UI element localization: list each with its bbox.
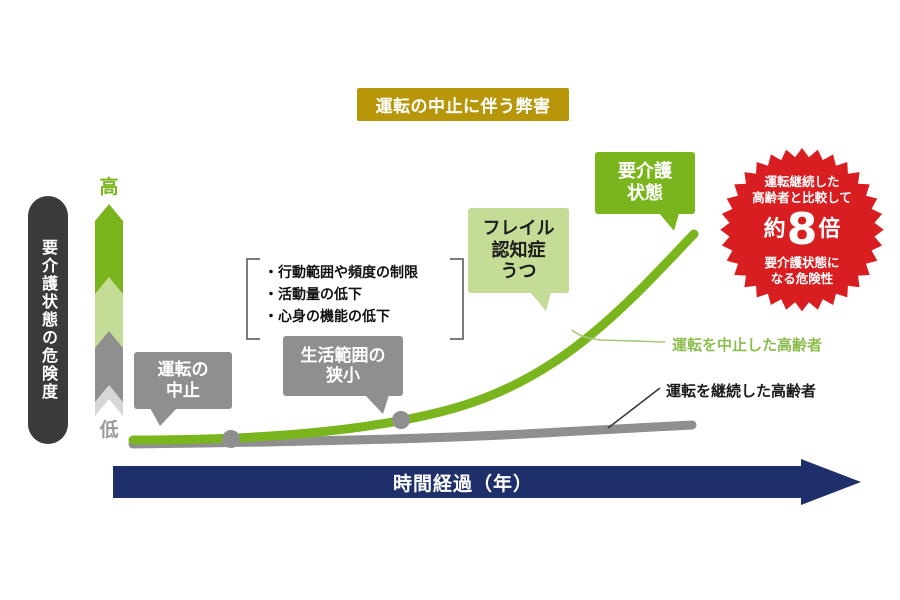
callout-stop-driving-line-1: 運転の xyxy=(158,360,209,380)
risk-badge-content: 運転継続した 高齢者と比較して 約 8 倍 要介護状態に なる危険性 xyxy=(718,146,886,314)
callout-care-needed: 要介護 状態 xyxy=(595,152,695,214)
bracket-left-icon xyxy=(246,258,260,340)
callout-tail-icon xyxy=(659,213,679,231)
risk-badge-number: 8 xyxy=(787,208,818,252)
risk-badge-prefix: 約 xyxy=(764,219,786,241)
callout-stop-driving: 運転の 中止 xyxy=(134,352,232,409)
time-axis-arrow: 時間経過（年） xyxy=(113,459,861,505)
risk-badge: 運転継続した 高齢者と比較して 約 8 倍 要介護状態に なる危険性 xyxy=(718,146,886,314)
bracket-list-item: ・心身の機能の低下 xyxy=(264,306,464,328)
legend-label-stopped-driving: 運転を中止した高齢者 xyxy=(672,334,822,355)
callout-care-needed-line-2: 状態 xyxy=(627,183,663,205)
bracket-list-item: ・活動量の低下 xyxy=(264,284,464,306)
risk-badge-bottom-line-1: 要介護状態に xyxy=(764,255,839,271)
marker-stop-driving xyxy=(222,430,240,448)
legend-label-continued-driving: 運転を継続した高齢者 xyxy=(666,380,816,401)
bracket-right-icon xyxy=(450,258,464,340)
callout-care-needed-line-1: 要介護 xyxy=(618,161,672,183)
bracket-list-item: ・行動範囲や頻度の制限 xyxy=(264,262,464,284)
risk-badge-suffix: 倍 xyxy=(818,219,840,241)
callout-narrow-life-range: 生活範囲の 狭小 xyxy=(283,336,403,396)
callout-frailty-line-1: フレイル xyxy=(483,218,555,240)
risk-badge-multiplier: 約 8 倍 xyxy=(764,208,841,252)
callout-frailty-line-2: 認知症 xyxy=(492,240,546,262)
callout-tail-icon xyxy=(150,408,177,426)
risk-badge-top-line-1: 運転継続した xyxy=(764,174,839,190)
callout-tail-icon xyxy=(530,292,551,311)
bracket-detail-list: ・行動範囲や頻度の制限 ・活動量の低下 ・心身の機能の低下 xyxy=(246,258,464,336)
callout-frailty-line-3: うつ xyxy=(501,261,537,283)
leader-line-continued xyxy=(608,388,660,428)
infographic-canvas: 運転の中止に伴う弊害 要介護状態の危険度 高 低 xyxy=(0,0,900,600)
callout-stop-driving-line-2: 中止 xyxy=(166,381,200,401)
marker-narrow-life xyxy=(392,411,410,429)
callout-frailty: フレイル 認知症 うつ xyxy=(468,208,569,293)
callout-narrow-life-range-line-2: 狭小 xyxy=(326,366,360,386)
time-axis-label: 時間経過（年） xyxy=(113,459,813,505)
risk-badge-bottom-line-2: なる危険性 xyxy=(771,271,834,287)
callout-narrow-life-range-line-1: 生活範囲の xyxy=(301,346,386,366)
callout-tail-icon xyxy=(365,395,389,414)
